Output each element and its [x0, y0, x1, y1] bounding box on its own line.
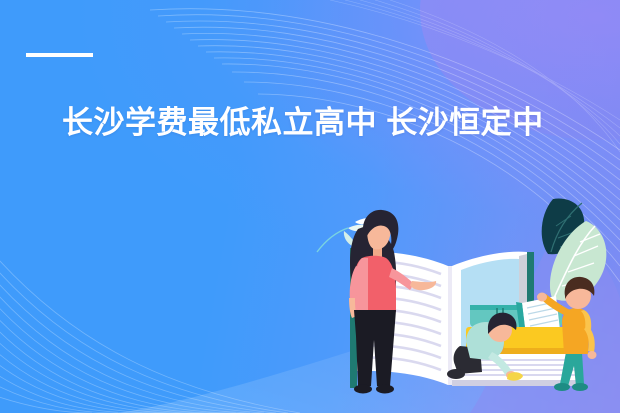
- boy-right-hand: [537, 293, 547, 302]
- boy-right-shoe-left: [554, 383, 570, 391]
- woman-shoe-left: [354, 385, 372, 394]
- woman-pants: [354, 310, 396, 386]
- book-gutter: [448, 266, 452, 385]
- boy-right-hand-lower: [588, 351, 597, 359]
- boy-crouch-shoe: [447, 369, 465, 379]
- education-reading-illustration: [0, 0, 620, 413]
- page-title: 长沙学费最低私立高中 长沙恒定中: [62, 104, 544, 142]
- banner: 长沙学费最低私立高中 长沙恒定中: [0, 0, 620, 413]
- woman-shoe-right: [376, 385, 394, 394]
- boy-right-shoe-right: [572, 383, 588, 391]
- accent-rule: [26, 53, 93, 57]
